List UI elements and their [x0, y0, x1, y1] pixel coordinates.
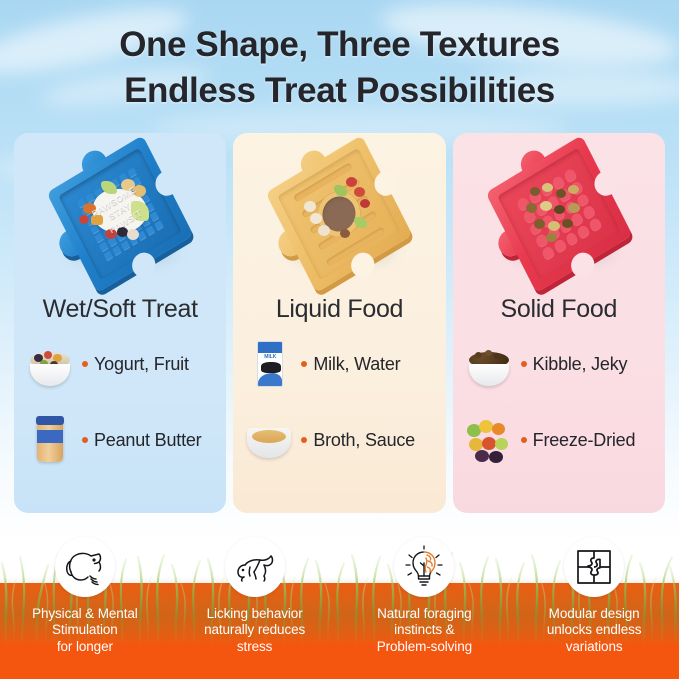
item-list-liquid-food: MILK Milk, Water Broth, Sauce — [233, 334, 445, 466]
card-label-liquid-food: Liquid Food — [233, 291, 445, 334]
list-item[interactable]: Kibble, Jeky — [463, 338, 657, 390]
list-item[interactable]: Peanut Butter — [24, 414, 218, 466]
kibble-bowl-icon — [463, 338, 515, 390]
card-liquid-food[interactable]: Liquid Food MILK Milk, Water — [233, 133, 445, 513]
milk-carton-icon: MILK — [243, 338, 295, 390]
card-solid-food[interactable]: Solid Food Kibble, Jeky — [453, 133, 665, 513]
list-item[interactable]: MILK Milk, Water — [243, 338, 437, 390]
feature-text: Natural foraging instincts & Problem-sol… — [377, 606, 472, 655]
item-label: Broth, Sauce — [313, 430, 415, 451]
yogurt-bowl-icon — [24, 338, 76, 390]
list-item[interactable]: Freeze-Dried — [463, 414, 657, 466]
mat-image-solid-food — [453, 133, 665, 291]
dog-head-icon — [55, 537, 115, 597]
item-label: Kibble, Jeky — [533, 354, 628, 375]
card-wet-soft-treat[interactable]: PAWSOME STAY PAWSIT Wet/Soft Treat Yogur… — [14, 133, 226, 513]
food-topping-liquid — [296, 177, 382, 247]
list-item[interactable]: Broth, Sauce — [243, 414, 437, 466]
feature-text: Licking behavior naturally reduces stres… — [204, 606, 305, 655]
mat-image-wet-soft-treat: PAWSOME STAY PAWSIT — [14, 133, 226, 291]
headline-line-1: One Shape, Three Textures — [0, 22, 679, 68]
bullet-dot — [82, 361, 88, 367]
list-item[interactable]: Yogurt, Fruit — [24, 338, 218, 390]
freeze-dried-mix-icon — [463, 414, 515, 466]
card-label-solid-food: Solid Food — [453, 291, 665, 334]
feature-benefits-row: Physical & Mental Stimulation for longer… — [0, 537, 679, 675]
item-label: Milk, Water — [313, 354, 400, 375]
feature-stimulation[interactable]: Physical & Mental Stimulation for longer — [0, 537, 170, 675]
feature-modular[interactable]: Modular design unlocks endless variation… — [509, 537, 679, 675]
item-list-solid-food: Kibble, Jeky Freeze-Dried — [453, 334, 665, 466]
feature-text: Modular design unlocks endless variation… — [547, 606, 642, 655]
bullet-dot — [301, 361, 307, 367]
lightbulb-brain-icon — [394, 537, 454, 597]
dog-licking-icon — [225, 537, 285, 597]
food-topping-solid — [516, 177, 602, 247]
puzzle-pieces-icon — [564, 537, 624, 597]
item-label: Freeze-Dried — [533, 430, 636, 451]
bullet-dot — [82, 437, 88, 443]
item-label: Yogurt, Fruit — [94, 354, 189, 375]
headline: One Shape, Three Textures Endless Treat … — [0, 22, 679, 113]
card-label-wet-soft-treat: Wet/Soft Treat — [14, 291, 226, 334]
peanut-butter-jar-icon — [24, 414, 76, 466]
item-label: Peanut Butter — [94, 430, 201, 451]
bullet-dot — [521, 437, 527, 443]
bullet-dot — [521, 361, 527, 367]
bullet-dot — [301, 437, 307, 443]
feature-text: Physical & Mental Stimulation for longer — [32, 606, 138, 655]
feature-licking[interactable]: Licking behavior naturally reduces stres… — [170, 537, 340, 675]
broth-bowl-icon — [243, 414, 295, 466]
headline-line-2: Endless Treat Possibilities — [0, 68, 679, 114]
feature-cards-row: PAWSOME STAY PAWSIT Wet/Soft Treat Yogur… — [14, 133, 665, 513]
feature-foraging[interactable]: Natural foraging instincts & Problem-sol… — [340, 537, 510, 675]
mat-image-liquid-food — [233, 133, 445, 291]
item-list-wet-soft-treat: Yogurt, Fruit Peanut Butter — [14, 334, 226, 466]
